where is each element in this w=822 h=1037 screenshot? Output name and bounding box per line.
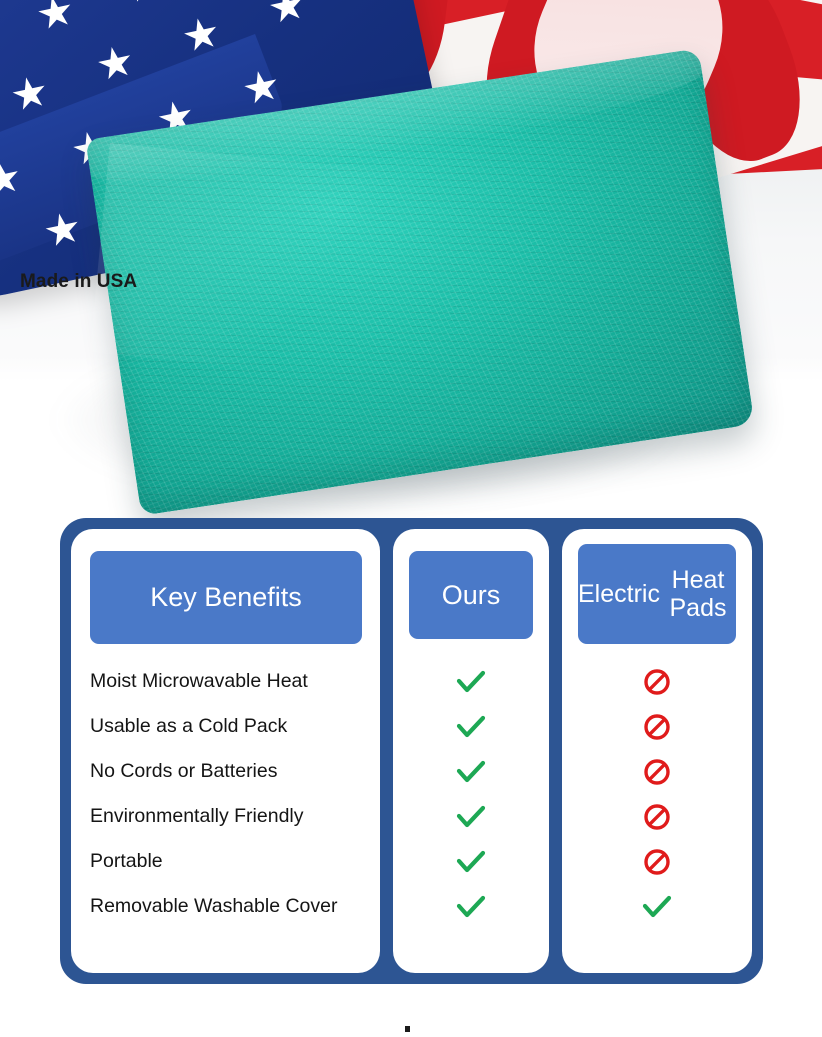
prohibited-icon	[562, 803, 752, 831]
ours-cell-list	[393, 659, 549, 929]
benefit-label: No Cords or Batteries	[71, 760, 278, 783]
column-header-line-1: Electric	[578, 580, 660, 608]
benefit-label: Removable Washable Cover	[71, 895, 337, 918]
check-icon	[562, 894, 752, 920]
table-row	[562, 794, 752, 839]
table-row: No Cords or Batteries	[71, 749, 380, 794]
benefit-label: Moist Microwavable Heat	[71, 670, 308, 693]
table-row	[562, 704, 752, 749]
footer-mark	[405, 1026, 410, 1032]
prohibited-icon	[562, 668, 752, 696]
benefit-label: Environmentally Friendly	[71, 805, 304, 828]
check-icon	[393, 669, 549, 695]
product-infographic: Made in USA Key Benefits Moist Microwava…	[0, 0, 822, 1037]
prohibited-icon	[562, 758, 752, 786]
table-row	[393, 659, 549, 704]
table-row	[562, 839, 752, 884]
flag-star-icon	[267, 0, 307, 27]
check-icon	[393, 894, 549, 920]
table-row	[393, 884, 549, 929]
prohibited-icon	[562, 713, 752, 741]
column-key-benefits: Key Benefits Moist Microwavable Heat Usa…	[71, 529, 380, 973]
table-row	[562, 884, 752, 929]
check-icon	[393, 759, 549, 785]
table-row: Portable	[71, 839, 380, 884]
column-header-electric-heat-pads: Electric Heat Pads	[578, 544, 736, 644]
table-row	[562, 749, 752, 794]
benefit-label: Portable	[71, 850, 163, 873]
column-header-key-benefits: Key Benefits	[90, 551, 362, 644]
table-row: Moist Microwavable Heat	[71, 659, 380, 704]
flag-star-icon	[35, 0, 75, 33]
table-row: Environmentally Friendly	[71, 794, 380, 839]
check-icon	[393, 849, 549, 875]
column-ours: Ours	[393, 529, 549, 973]
table-row	[393, 794, 549, 839]
table-row	[393, 749, 549, 794]
benefit-label: Usable as a Cold Pack	[71, 715, 287, 738]
column-header-ours: Ours	[409, 551, 533, 639]
flag-star-icon	[124, 0, 164, 6]
table-row	[562, 659, 752, 704]
comparison-table: Key Benefits Moist Microwavable Heat Usa…	[60, 518, 763, 984]
table-row: Removable Washable Cover	[71, 884, 380, 929]
electric-cell-list	[562, 659, 752, 929]
pad-highlight	[90, 143, 409, 381]
check-icon	[393, 714, 549, 740]
column-electric-heat-pads: Electric Heat Pads	[562, 529, 752, 973]
table-row	[393, 704, 549, 749]
prohibited-icon	[562, 848, 752, 876]
benefit-label-list: Moist Microwavable Heat Usable as a Cold…	[71, 659, 380, 929]
flag-star-icon	[9, 74, 49, 114]
table-row	[393, 839, 549, 884]
column-header-line-2: Heat Pads	[660, 566, 736, 622]
check-icon	[393, 804, 549, 830]
made-in-usa-badge: Made in USA	[20, 271, 137, 293]
flag-star-icon	[95, 43, 135, 83]
table-row: Usable as a Cold Pack	[71, 704, 380, 749]
